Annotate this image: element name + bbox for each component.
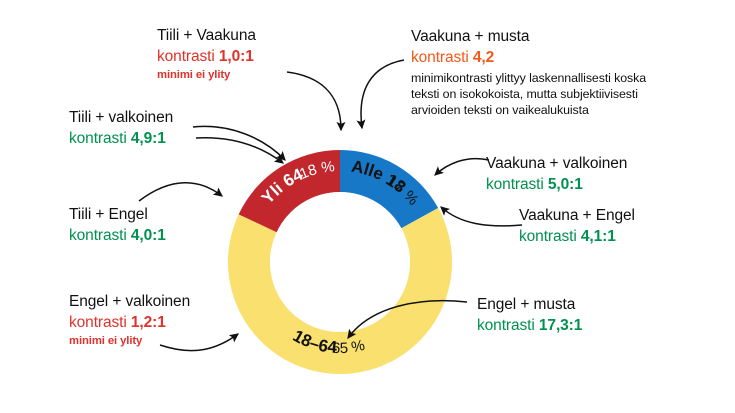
callout-tiili-valkoinen-title: Tiili + valkoinen — [69, 109, 173, 127]
callout-engel-musta-title: Engel + musta — [477, 296, 582, 314]
callout-vaakuna-valkoinen-title: Vaakuna + valkoinen — [486, 155, 627, 173]
contrast-value: 4,1:1 — [581, 228, 616, 245]
contrast-label: kontrasti — [69, 227, 127, 244]
donut-chart-svg: Alle 18 17 % 18–64 65 % Yli 64 18 % — [215, 137, 465, 387]
contrast-value: 5,0:1 — [548, 176, 583, 193]
contrast-value: 1,0:1 — [219, 48, 254, 65]
callout-vaakuna-engel: Vaakuna + Engel kontrasti 4,1:1 — [519, 207, 635, 247]
callout-vaakuna-engel-title: Vaakuna + Engel — [519, 207, 635, 225]
callout-engel-musta: Engel + musta kontrasti 17,3:1 — [477, 296, 582, 336]
callout-tiili-valkoinen-contrast: kontrasti 4,9:1 — [69, 130, 173, 148]
contrast-label: kontrasti — [157, 48, 215, 65]
callout-engel-valkoinen-note: minimi ei ylity — [69, 335, 190, 348]
arrow-vaakuna-musta — [361, 60, 404, 128]
contrast-value: 17,3:1 — [539, 317, 582, 334]
donut-hole — [270, 192, 410, 332]
contrast-label: kontrasti — [477, 317, 535, 334]
arrow-tiili-vaakuna — [287, 72, 341, 130]
callout-tiili-vaakuna-note: minimi ei ylity — [157, 69, 256, 82]
callout-tiili-engel-title: Tiili + Engel — [69, 206, 166, 224]
callout-vaakuna-musta-title: Vaakuna + musta — [411, 28, 649, 46]
callout-tiili-valkoinen: Tiili + valkoinen kontrasti 4,9:1 — [69, 109, 173, 149]
callout-tiili-engel: Tiili + Engel kontrasti 4,0:1 — [69, 206, 166, 246]
arrow-tiili-engel — [139, 183, 222, 201]
callout-vaakuna-engel-contrast: kontrasti 4,1:1 — [519, 228, 635, 246]
callout-engel-valkoinen-title: Engel + valkoinen — [69, 293, 190, 311]
contrast-value: 4,9:1 — [131, 130, 166, 147]
contrast-value: 4,2 — [473, 49, 494, 66]
contrast-label: kontrasti — [486, 176, 544, 193]
callout-vaakuna-musta: Vaakuna + musta kontrasti 4,2 minimikont… — [411, 28, 649, 119]
contrast-label: kontrasti — [411, 49, 469, 66]
callout-vaakuna-valkoinen: Vaakuna + valkoinen kontrasti 5,0:1 — [486, 155, 627, 195]
contrast-value: 4,0:1 — [131, 227, 166, 244]
callout-vaakuna-musta-contrast: kontrasti 4,2 — [411, 49, 649, 67]
callout-tiili-vaakuna-title: Tiili + Vaakuna — [157, 27, 256, 45]
donut-chart: Alle 18 17 % 18–64 65 % Yli 64 18 % — [215, 137, 465, 387]
callout-vaakuna-valkoinen-contrast: kontrasti 5,0:1 — [486, 176, 627, 194]
callout-vaakuna-musta-note: minimikontrasti ylittyy laskennallisesti… — [411, 70, 649, 119]
callout-engel-valkoinen: Engel + valkoinen kontrasti 1,2:1 minimi… — [69, 293, 190, 348]
callout-tiili-vaakuna-contrast: kontrasti 1,0:1 — [157, 48, 256, 66]
callout-engel-musta-contrast: kontrasti 17,3:1 — [477, 317, 582, 335]
contrast-value: 1,2:1 — [131, 314, 166, 331]
contrast-label: kontrasti — [519, 228, 577, 245]
callout-tiili-engel-contrast: kontrasti 4,0:1 — [69, 227, 166, 245]
contrast-label: kontrasti — [69, 130, 127, 147]
infographic-canvas: Alle 18 17 % 18–64 65 % Yli 64 18 % — [0, 0, 735, 413]
callout-tiili-vaakuna: Tiili + Vaakuna kontrasti 1,0:1 minimi e… — [157, 27, 256, 82]
contrast-label: kontrasti — [69, 314, 127, 331]
callout-engel-valkoinen-contrast: kontrasti 1,2:1 — [69, 314, 190, 332]
